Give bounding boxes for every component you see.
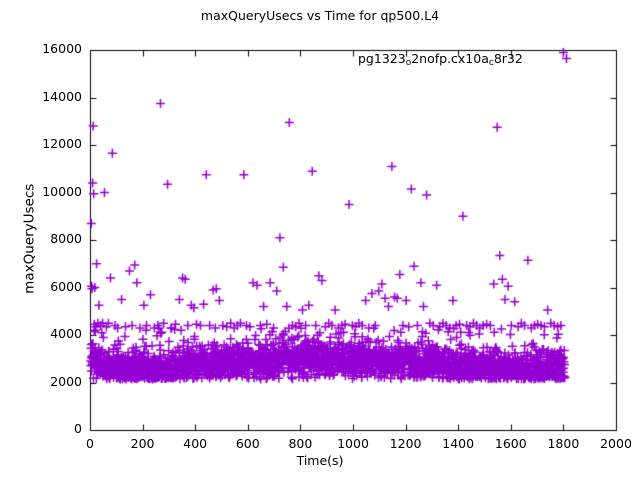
x-tick-label: 200 [113, 438, 173, 451]
x-tick-label: 1200 [376, 438, 436, 451]
x-tick-label: 0 [60, 438, 120, 451]
x-tick-label: 1000 [323, 438, 383, 451]
scatter-plot-canvas [0, 0, 640, 480]
x-tick-label: 1400 [428, 438, 488, 451]
y-tick-label: 16000 [22, 43, 82, 56]
x-tick-label: 800 [270, 438, 330, 451]
y-tick-label: 12000 [22, 138, 82, 151]
legend-entry-label: pg1323o2nofp.cx10ac8r32 [358, 51, 523, 68]
x-tick-label: 1600 [481, 438, 541, 451]
chart-container: maxQueryUsecs vs Time for qp500.L4 Time(… [0, 0, 640, 480]
y-tick-label: 2000 [22, 376, 82, 389]
x-tick-label: 600 [218, 438, 278, 451]
y-tick-label: 14000 [22, 91, 82, 104]
y-tick-label: 0 [22, 423, 82, 436]
y-tick-label: 6000 [22, 281, 82, 294]
y-tick-label: 10000 [22, 186, 82, 199]
x-tick-label: 2000 [586, 438, 640, 451]
x-tick-label: 1800 [533, 438, 593, 451]
x-axis-label: Time(s) [0, 455, 640, 468]
y-tick-label: 8000 [22, 233, 82, 246]
y-tick-label: 4000 [22, 328, 82, 341]
x-tick-label: 400 [165, 438, 225, 451]
chart-title: maxQueryUsecs vs Time for qp500.L4 [0, 10, 640, 23]
